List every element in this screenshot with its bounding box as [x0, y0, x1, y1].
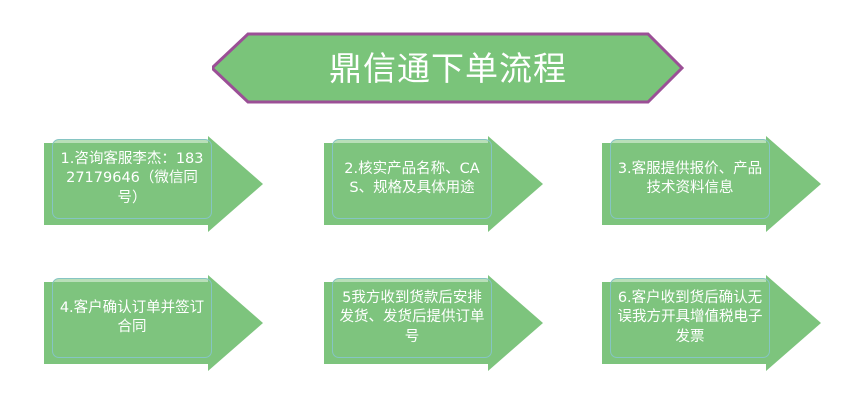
flow-step-5[interactable]: 5我方收到货款后安排发货、发货后提供订单号: [324, 275, 554, 371]
step-3-label: 3.客服提供报价、产品技术资料信息: [610, 139, 770, 219]
page-title: 鼎信通下单流程: [212, 32, 684, 104]
step-5-label: 5我方收到货款后安排发货、发货后提供订单号: [332, 278, 492, 358]
step-6-label: 6.客户收到货后确认无误我方开具增值税电子发票: [610, 278, 770, 358]
flow-step-3[interactable]: 3.客服提供报价、产品技术资料信息: [602, 136, 832, 232]
step-1-label: 1.咨询客服李杰：18327179646（微信同号）: [52, 139, 212, 219]
diagram-title-banner: 鼎信通下单流程: [212, 32, 684, 104]
flow-step-4[interactable]: 4.客户确认订单并签订合同: [44, 275, 274, 371]
step-4-label: 4.客户确认订单并签订合同: [52, 278, 212, 358]
flow-step-2[interactable]: 2.核实产品名称、CAS、规格及具体用途: [324, 136, 554, 232]
flow-step-1[interactable]: 1.咨询客服李杰：18327179646（微信同号）: [44, 136, 274, 232]
flowchart-canvas: 鼎信通下单流程 1.咨询客服李杰：18327179646（微信同号） 2.核实产…: [0, 0, 865, 417]
flow-step-6[interactable]: 6.客户收到货后确认无误我方开具增值税电子发票: [602, 275, 832, 371]
step-2-label: 2.核实产品名称、CAS、规格及具体用途: [332, 139, 492, 219]
